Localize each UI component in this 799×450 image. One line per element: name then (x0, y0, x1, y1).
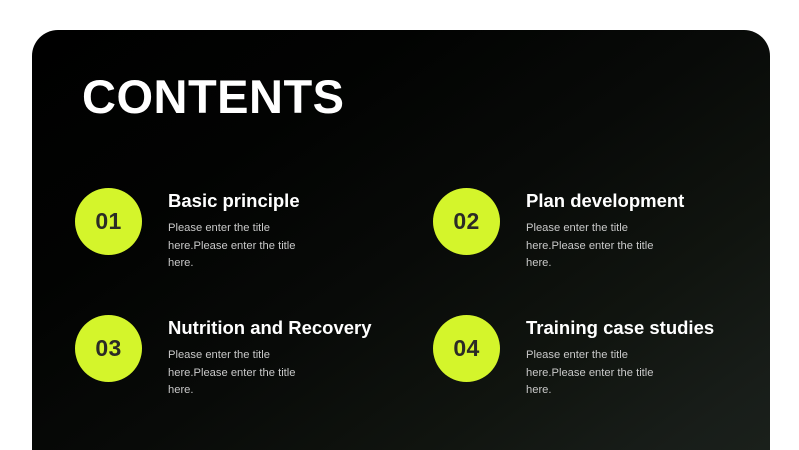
number-badge-label: 04 (453, 337, 479, 360)
item-description: Please enter the title here.Please enter… (526, 347, 678, 400)
contents-item-02[interactable]: 02 Plan development Please enter the tit… (433, 188, 765, 315)
item-text-block: Training case studies Please enter the t… (526, 315, 714, 400)
contents-grid: 01 Basic principle Please enter the titl… (75, 188, 765, 442)
item-description: Please enter the title here.Please enter… (168, 220, 320, 273)
page-title: CONTENTS (82, 72, 345, 121)
item-title: Nutrition and Recovery (168, 317, 372, 338)
item-title: Plan development (526, 190, 684, 211)
number-badge-04: 04 (433, 315, 500, 382)
number-badge-label: 03 (95, 337, 121, 360)
item-title: Basic principle (168, 190, 320, 211)
item-text-block: Nutrition and Recovery Please enter the … (168, 315, 372, 400)
item-description: Please enter the title here.Please enter… (168, 347, 320, 400)
number-badge-label: 01 (95, 210, 121, 233)
item-title: Training case studies (526, 317, 714, 338)
contents-item-04[interactable]: 04 Training case studies Please enter th… (433, 315, 765, 442)
item-text-block: Plan development Please enter the title … (526, 188, 684, 273)
content-panel: CONTENTS 01 Basic principle Please enter… (32, 30, 770, 450)
number-badge-01: 01 (75, 188, 142, 255)
item-text-block: Basic principle Please enter the title h… (168, 188, 320, 273)
number-badge-02: 02 (433, 188, 500, 255)
contents-item-03[interactable]: 03 Nutrition and Recovery Please enter t… (75, 315, 433, 442)
contents-item-01[interactable]: 01 Basic principle Please enter the titl… (75, 188, 433, 315)
slide-canvas: CONTENTS 01 Basic principle Please enter… (0, 0, 799, 450)
number-badge-03: 03 (75, 315, 142, 382)
item-description: Please enter the title here.Please enter… (526, 220, 678, 273)
number-badge-label: 02 (453, 210, 479, 233)
